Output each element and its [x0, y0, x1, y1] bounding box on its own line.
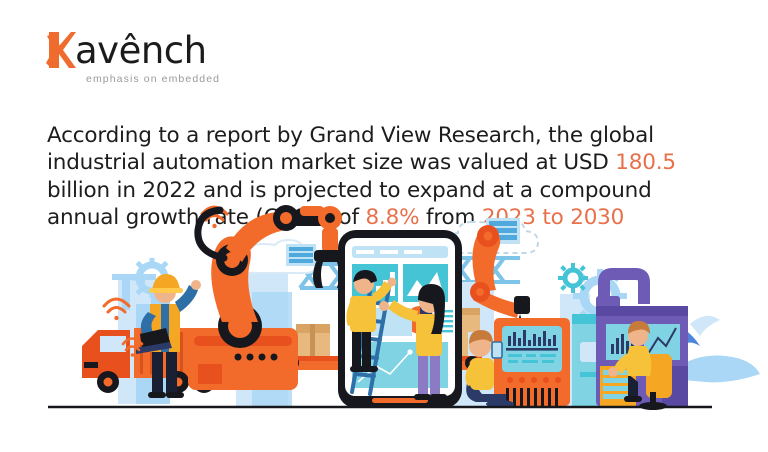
headline-market-value: 180.5: [615, 150, 676, 175]
poster-canvas: avênch emphasis on embedded According to…: [0, 0, 768, 452]
logo-k-icon: [46, 30, 76, 70]
logo-tagline: emphasis on embedded: [86, 73, 266, 85]
illustration: [0, 196, 768, 426]
cnc-control-machine: [494, 318, 570, 406]
logo-wordmark: avênch: [75, 32, 207, 70]
headline-segment-1: According to a report by Grand View Rese…: [47, 123, 654, 176]
logo-wordmark-row: avênch: [46, 30, 266, 70]
brand-logo: avênch emphasis on embedded: [46, 30, 266, 86]
